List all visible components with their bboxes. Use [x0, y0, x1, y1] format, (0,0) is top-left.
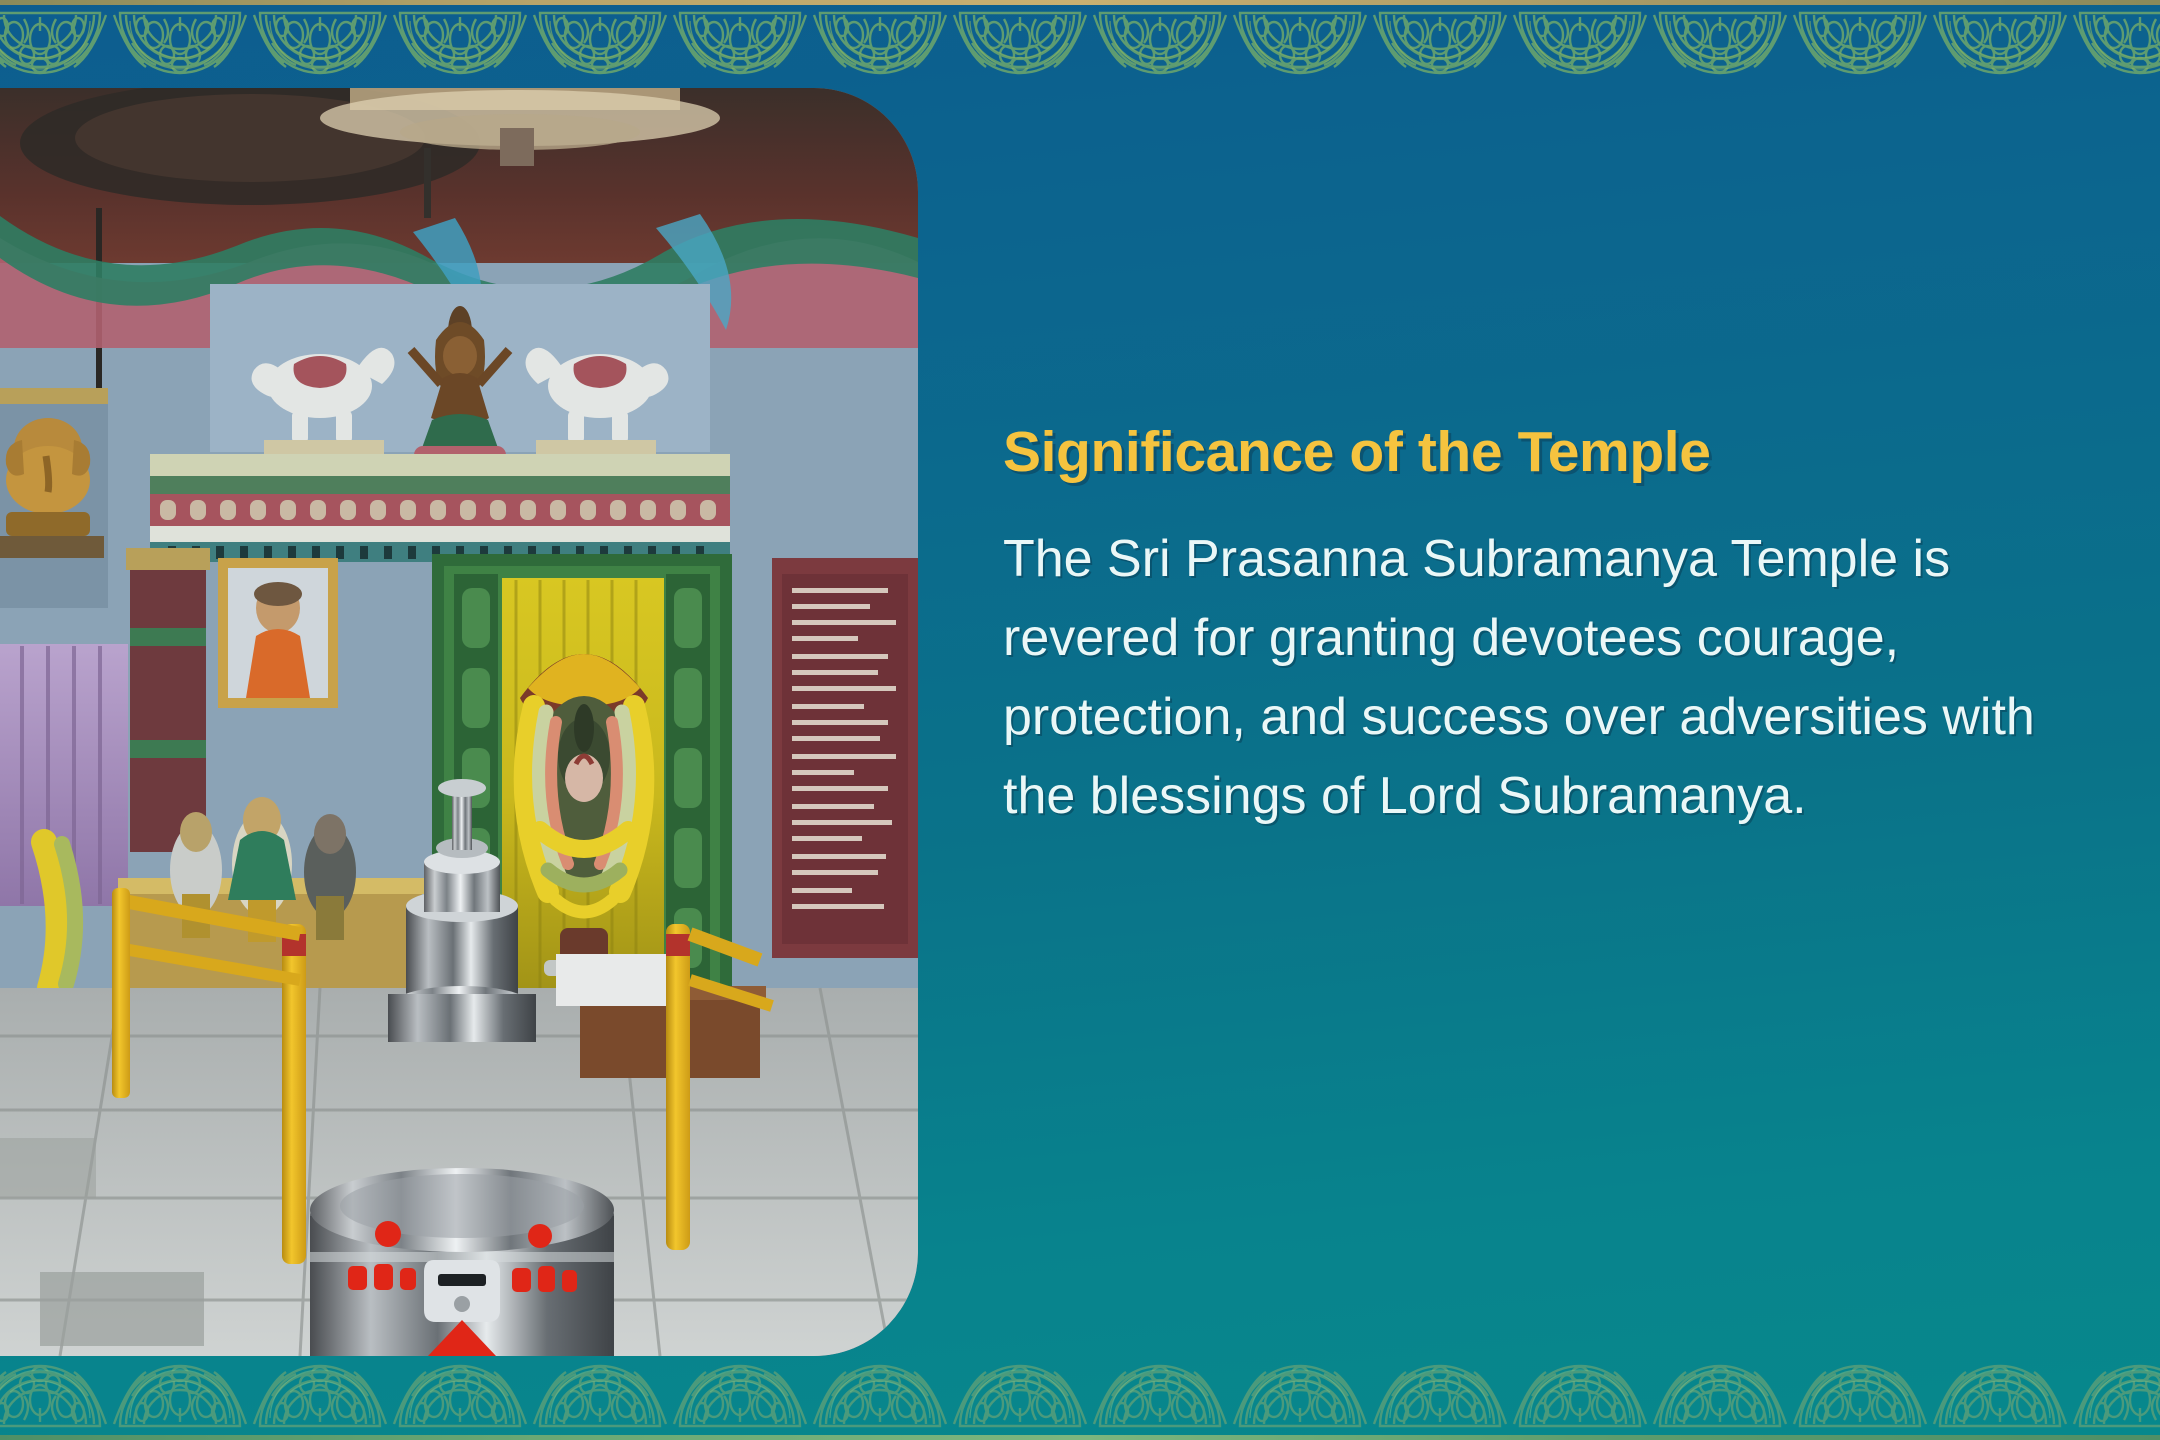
top-decorative-border: [0, 0, 2160, 92]
page-title: Significance of the Temple: [1003, 420, 2063, 486]
text-content-column: Significance of the Temple The Sri Prasa…: [1003, 420, 2063, 836]
temple-interior-photo: [0, 88, 918, 1356]
mandala-fringe-border-icon: [0, 5, 2160, 92]
top-border-edge-line: [0, 0, 2160, 5]
presentation-slide: Significance of the Temple The Sri Prasa…: [0, 0, 2160, 1440]
body-paragraph: The Sri Prasanna Subramanya Temple is re…: [1003, 520, 2048, 836]
temple-interior-illustration: [0, 88, 918, 1356]
mandala-fringe-border-icon: [0, 1344, 2160, 1435]
bottom-decorative-border: [0, 1344, 2160, 1440]
bottom-border-edge-line: [0, 1435, 2160, 1440]
